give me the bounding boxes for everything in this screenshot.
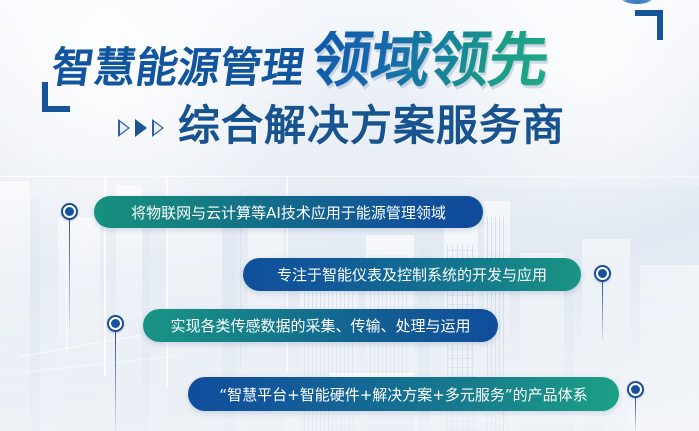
pill-label: “智慧平台+智能硬件+解决方案+多元服务”的产品体系 <box>219 384 587 405</box>
headline-line-1: 智慧能源管理 领域领先 <box>52 27 652 89</box>
marker-stem <box>115 332 116 431</box>
circle-arc-decoration <box>618 0 656 4</box>
promo-banner: 智慧能源管理 领域领先 综合解决方案服务商 将物联网与云计算等AI技术应用于能源… <box>0 0 699 431</box>
headline-part2: 领域领先 <box>308 31 552 89</box>
pill-product-system[interactable]: “智慧平台+智能硬件+解决方案+多元服务”的产品体系 <box>188 377 619 411</box>
pill-label: 专注于智能仪表及控制系统的开发与应用 <box>277 264 547 285</box>
perspective-line <box>20 355 179 373</box>
pill-sensor-data[interactable]: 实现各类传感数据的采集、传输、处理与运用 <box>143 309 498 342</box>
building-slab <box>58 217 100 431</box>
pill-smart-meter[interactable]: 专注于智能仪表及控制系统的开发与应用 <box>243 258 581 291</box>
building-slab <box>640 265 699 431</box>
marker-core <box>65 207 74 216</box>
marker-stem <box>69 220 70 328</box>
timeline-marker-2 <box>107 315 124 332</box>
building-slab <box>0 181 30 431</box>
pill-label: 实现各类传感数据的采集、传输、处理与运用 <box>170 315 470 336</box>
marker-core <box>631 385 640 394</box>
headline-subtitle: 综合解决方案服务商 <box>178 103 565 149</box>
headline-line-2: 综合解决方案服务商 <box>118 98 698 154</box>
timeline-marker-1 <box>61 203 78 220</box>
marker-stem <box>635 398 636 431</box>
pill-label: 将物联网与云计算等AI技术应用于能源管理领域 <box>131 202 446 223</box>
perspective-line <box>66 246 67 356</box>
perspective-line <box>20 335 140 357</box>
marker-stem <box>602 282 603 340</box>
timeline-marker-3 <box>594 265 611 282</box>
triangle-filled-icon <box>135 119 147 137</box>
horizon-line <box>0 176 699 177</box>
marker-core <box>598 269 607 278</box>
pill-iot-cloud-ai[interactable]: 将物联网与云计算等AI技术应用于能源管理领域 <box>94 196 483 228</box>
marker-core <box>111 319 120 328</box>
triangle-outline-icon <box>152 119 164 137</box>
arrow-group <box>118 119 164 137</box>
timeline-marker-4 <box>627 381 644 398</box>
headline-part1: 智慧能源管理 <box>49 47 307 89</box>
headline-block: 智慧能源管理 领域领先 综合解决方案服务商 <box>0 0 699 176</box>
building-slab <box>30 199 40 431</box>
triangle-outline-icon <box>118 119 130 137</box>
